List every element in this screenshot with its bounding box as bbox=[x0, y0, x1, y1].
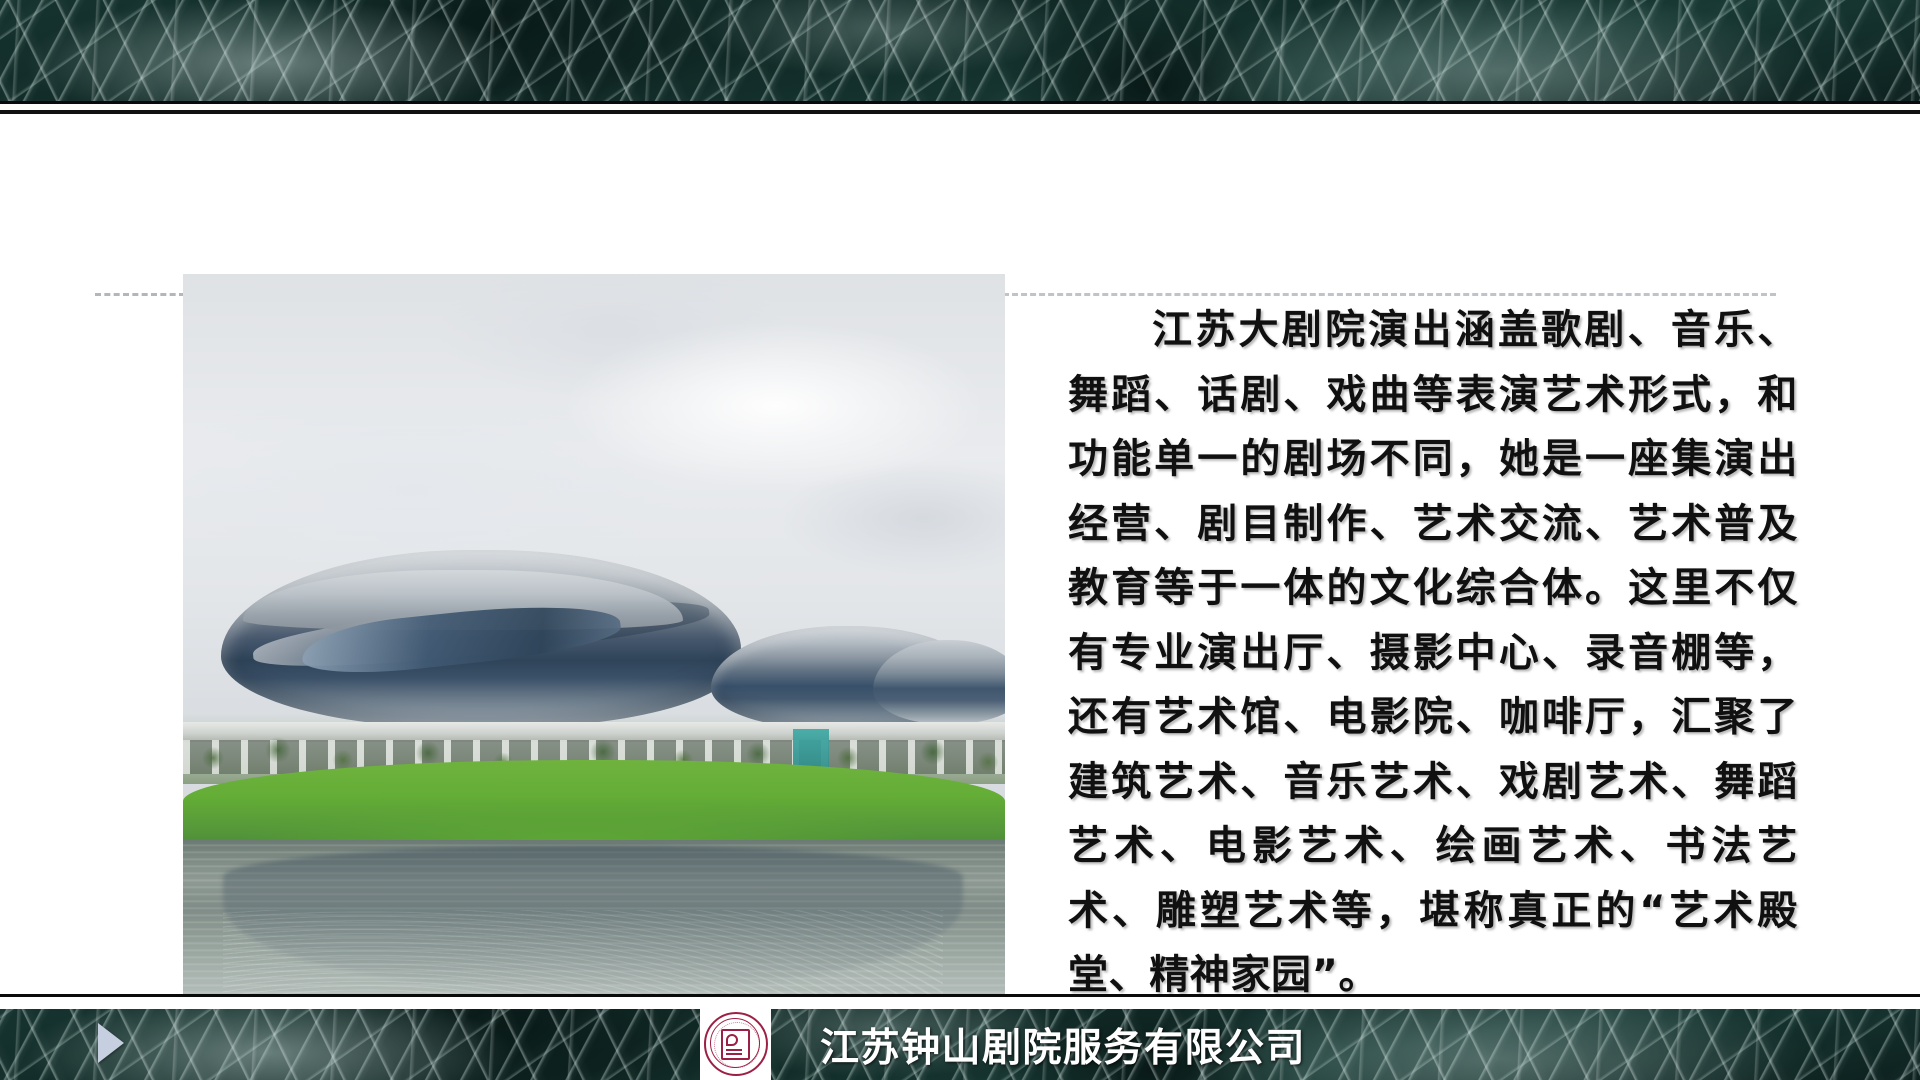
slide-content-area: 江苏大剧院演出涵盖歌剧、音乐、舞蹈、话剧、戏曲等表演艺术形式，和功能单一的剧场不… bbox=[0, 114, 1920, 997]
footer-company-name: 江苏钟山剧院服务有限公司 bbox=[820, 1009, 1306, 1080]
marble-banner-top bbox=[0, 0, 1920, 101]
play-triangle-icon[interactable] bbox=[98, 1023, 124, 1063]
theatre-photo bbox=[183, 274, 1005, 1069]
photo-reflection bbox=[223, 846, 963, 986]
bottom-divider-rule bbox=[0, 994, 1920, 1002]
photo-lawn bbox=[183, 760, 1005, 850]
body-paragraph: 江苏大剧院演出涵盖歌剧、音乐、舞蹈、话剧、戏曲等表演艺术形式，和功能单一的剧场不… bbox=[1068, 298, 1798, 1008]
seal-glyph bbox=[721, 1029, 750, 1060]
text-column: 江苏大剧院演出涵盖歌剧、音乐、舞蹈、话剧、戏曲等表演艺术形式，和功能单一的剧场不… bbox=[1068, 298, 1798, 1008]
dashed-guide-right bbox=[1003, 293, 1776, 296]
slide-canvas: 江苏大剧院演出涵盖歌剧、音乐、舞蹈、话剧、戏曲等表演艺术形式，和功能单一的剧场不… bbox=[0, 0, 1920, 1080]
seal-ring bbox=[704, 1012, 768, 1076]
top-divider-rule bbox=[0, 101, 1920, 114]
bottom-divider-gap bbox=[0, 1002, 1920, 1009]
dashed-guide-left bbox=[95, 293, 185, 296]
company-seal-icon bbox=[700, 1008, 771, 1080]
